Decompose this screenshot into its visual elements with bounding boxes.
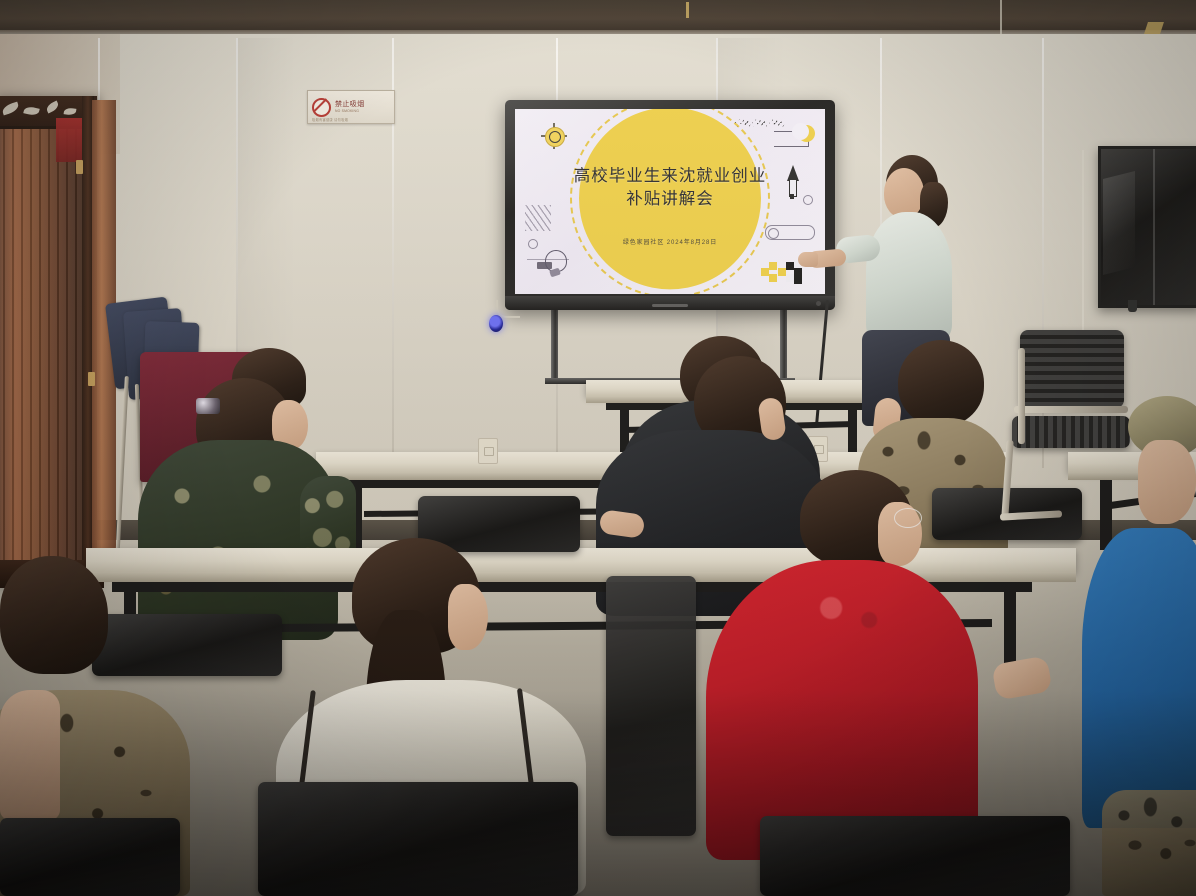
attendee-head (0, 556, 108, 674)
no-smoking-label: 禁止吸烟 (335, 101, 365, 108)
no-smoking-footer: 吸烟有害健康 请勿吸烟 (312, 117, 348, 122)
chair-back (92, 614, 282, 676)
presenter-head (884, 168, 924, 218)
leaf-motif-icon (45, 101, 60, 114)
lightbulb-icon (537, 250, 567, 280)
leaf-motif-icon (1, 102, 20, 116)
attendee-head (898, 340, 984, 426)
attendee-leopard-2 (1102, 790, 1196, 896)
ceiling-wire (1000, 0, 1002, 34)
wall-outlet (478, 438, 498, 464)
divider-clip (76, 160, 83, 174)
chair-leg (1018, 348, 1025, 444)
ceiling-pin (686, 2, 689, 18)
eyeglasses (894, 508, 922, 528)
slide-title-line1: 高校毕业生来沈就业创业 (574, 167, 767, 185)
presentation-slide: 高校毕业生来沈就业创业 补贴讲解会 绿色家园社区 2024年8月28日 (515, 109, 825, 294)
no-smoking-icon (312, 98, 331, 117)
meeting-room-photo: 禁止吸烟 NO SMOKING 吸烟有害健康 请勿吸烟 (0, 0, 1196, 896)
ceiling-beam (0, 0, 1196, 34)
display-stand-post (551, 310, 558, 382)
chair-back-foreground[interactable] (760, 816, 1070, 896)
wall-mounted-tv (1098, 146, 1196, 308)
no-smoking-sign: 禁止吸烟 NO SMOKING 吸烟有害健康 请勿吸烟 (307, 90, 395, 124)
attendee-torso (706, 560, 978, 860)
tv-seam (1153, 149, 1155, 305)
chair-back-ribbed[interactable] (1020, 330, 1124, 408)
divider-clip (88, 372, 95, 386)
hair-clip (196, 398, 220, 414)
display-ir-sensor (816, 301, 821, 306)
blue-status-led (489, 315, 503, 332)
tv-glare (1103, 171, 1135, 275)
table-row-front (86, 548, 1076, 572)
chair-back-foreground[interactable] (0, 818, 180, 896)
attendee-arm (0, 690, 60, 820)
chair-back-foreground[interactable] (258, 782, 578, 896)
chair-leg (115, 376, 129, 562)
display-chin-bar (505, 296, 835, 310)
attendee-neck (448, 584, 488, 650)
attendee-torso (1082, 528, 1196, 828)
display-stand-post (780, 310, 787, 382)
presenter-torso (866, 212, 952, 340)
target-icon (541, 123, 567, 149)
slide-title-line2: 补贴讲解会 (515, 188, 825, 211)
zigzag-line-decor (733, 119, 785, 127)
display-bezel: 高校毕业生来沈就业创业 补贴讲解会 绿色家园社区 2024年8月28日 (505, 100, 835, 310)
attendee-head (1138, 440, 1196, 524)
slide-subtitle: 绿色家园社区 2024年8月28日 (515, 237, 825, 246)
leaf-motif-icon (64, 107, 77, 116)
display-logo (652, 304, 688, 307)
slide-title: 高校毕业生来沈就业创业 补贴讲解会 (515, 165, 825, 212)
tv-mount (1128, 300, 1137, 312)
leaf-motif-icon (23, 105, 39, 116)
presenter-hand (798, 252, 818, 267)
table-leg (848, 410, 857, 454)
chair-back-foreground[interactable] (606, 576, 696, 836)
chair-rail (1014, 406, 1128, 413)
crescent-moon-icon (798, 125, 815, 142)
interactive-display-panel[interactable]: 高校毕业生来沈就业创业 补贴讲解会 绿色家园社区 2024年8月28日 (505, 100, 835, 310)
no-smoking-sublabel: NO SMOKING (335, 109, 365, 113)
chair-seat-cushion[interactable] (1012, 416, 1130, 448)
divider-red-panel (56, 118, 84, 162)
